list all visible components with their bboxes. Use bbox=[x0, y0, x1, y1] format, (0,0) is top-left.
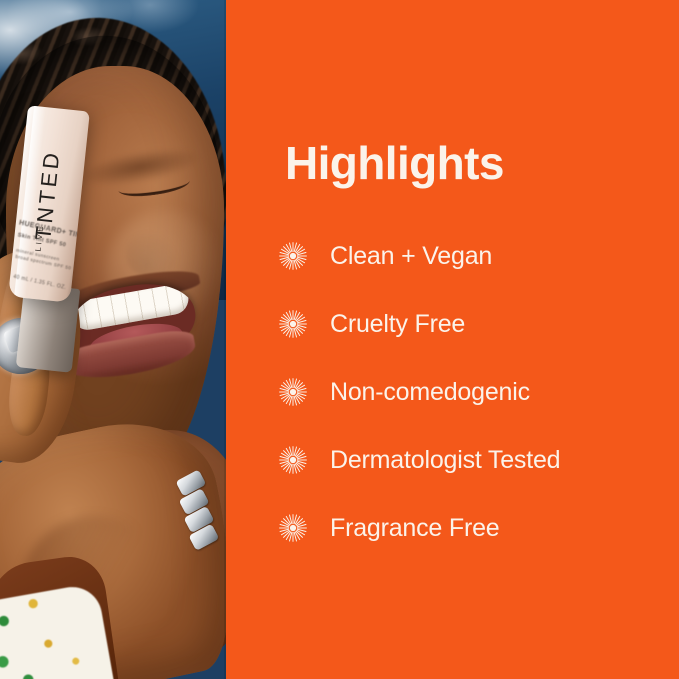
list-item-label: Fragrance Free bbox=[330, 514, 500, 543]
starburst-icon bbox=[278, 513, 308, 543]
list-item: Fragrance Free bbox=[278, 494, 678, 562]
starburst-icon bbox=[278, 241, 308, 271]
model-photo: TNTED LIVE HUEGUARD+ TINT Skin Tint SPF … bbox=[0, 0, 226, 679]
list-item-label: Clean + Vegan bbox=[330, 242, 492, 271]
list-item-label: Non-comedogenic bbox=[330, 378, 530, 407]
starburst-icon bbox=[278, 445, 308, 475]
list-item-label: Cruelty Free bbox=[330, 310, 465, 339]
list-item-label: Dermatologist Tested bbox=[330, 446, 560, 475]
highlights-list: Clean + Vegan bbox=[278, 222, 678, 562]
starburst-icon bbox=[278, 377, 308, 407]
highlights-panel: Highlights bbox=[226, 0, 679, 679]
product-highlights-banner: TNTED LIVE HUEGUARD+ TINT Skin Tint SPF … bbox=[0, 0, 679, 679]
list-item: Cruelty Free bbox=[278, 290, 678, 358]
list-item: Clean + Vegan bbox=[278, 222, 678, 290]
list-item: Dermatologist Tested bbox=[278, 426, 678, 494]
list-item: Non-comedogenic bbox=[278, 358, 678, 426]
starburst-icon bbox=[278, 309, 308, 339]
page-title: Highlights bbox=[285, 140, 504, 186]
